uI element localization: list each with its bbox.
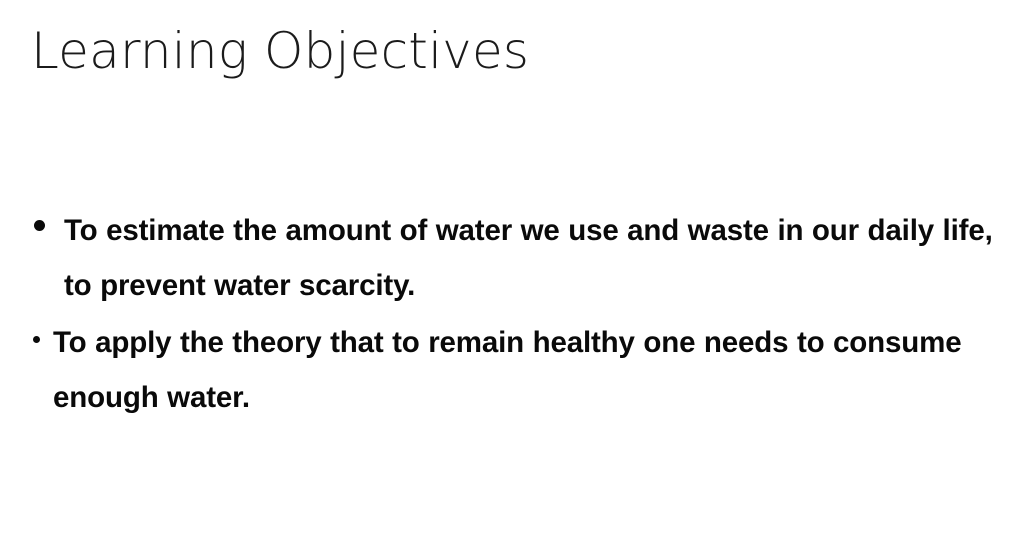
disc-bullet-icon [33,336,40,343]
slide-canvas: Learning Objectives To estimate the amou… [0,0,1024,554]
list-item-label: To apply the theory that to remain healt… [53,326,962,414]
list-item: To apply the theory that to remain healt… [28,315,1003,425]
list-item: To estimate the amount of water we use a… [28,203,1003,313]
disc-bullet-icon [34,220,45,231]
bullet-list: To estimate the amount of water we use a… [28,203,1003,427]
page-title: Learning Objectives [31,22,971,81]
list-item-label: To estimate the amount of water we use a… [64,214,993,302]
